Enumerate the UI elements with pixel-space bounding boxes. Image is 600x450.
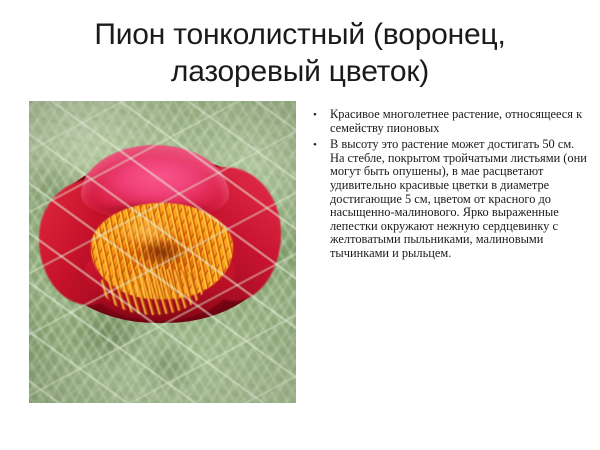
peony-flower xyxy=(43,145,279,325)
stamen-highlight xyxy=(109,213,185,249)
presentation-slide: Пион тонколистный (воронец, лазоревый цв… xyxy=(0,0,600,450)
body-text-block: Красивое многолетнее растение, относящее… xyxy=(309,108,587,261)
list-item: Красивое многолетнее растение, относящее… xyxy=(309,108,587,135)
list-item: В высоту это растение может достигать 50… xyxy=(309,138,587,260)
flower-photo xyxy=(29,101,296,403)
stamen-cluster xyxy=(91,203,233,299)
page-title: Пион тонколистный (воронец, лазоревый цв… xyxy=(18,16,582,90)
